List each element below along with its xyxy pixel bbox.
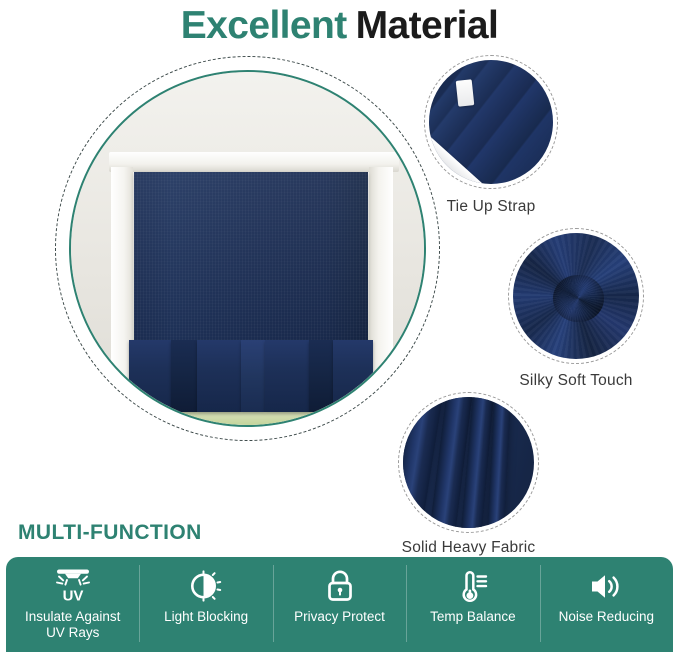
detail-caption-silky-soft-touch: Silky Soft Touch (519, 372, 632, 390)
feature-temp-balance: Temp Balance (406, 557, 539, 652)
roman-shade-pleats (129, 340, 373, 412)
feature-label-light-blocking: Light Blocking (164, 609, 248, 625)
feature-insulate-against-uv-rays: UV Insulate Against UV Rays (6, 557, 139, 652)
feature-label-noise-reducing: Noise Reducing (559, 609, 654, 625)
page-title: Excellent Material (0, 0, 679, 52)
thermometer-icon (454, 567, 492, 605)
uv-shade-icon: UV (50, 567, 96, 605)
feature-label-temp-balance: Temp Balance (430, 609, 516, 625)
detail-caption-tie-up-strap: Tie Up Strap (447, 198, 536, 216)
feature-noise-reducing: Noise Reducing (540, 557, 673, 652)
feature-label-privacy-protect: Privacy Protect (294, 609, 385, 625)
feature-light-blocking: Light Blocking (139, 557, 272, 652)
roman-shade-panel (134, 172, 368, 346)
solid-heavy-fabric-photo (403, 397, 534, 528)
detail-solid-heavy-fabric: Solid Heavy Fabric (398, 392, 539, 533)
feature-label-line2: UV Rays (46, 625, 99, 640)
speaker-waves-icon (586, 567, 626, 605)
feature-label-line1: Insulate Against (25, 609, 120, 624)
hero-product-photo (69, 70, 426, 427)
detail-caption-solid-heavy-fabric: Solid Heavy Fabric (402, 539, 536, 557)
feature-label-insulate-against-uv-rays: Insulate Against UV Rays (25, 609, 120, 640)
detail-silky-soft-touch: Silky Soft Touch (508, 228, 644, 364)
window-casing-top (109, 152, 399, 172)
half-sun-icon (187, 567, 225, 605)
page-title-rest: Material (356, 4, 499, 48)
page-title-highlight: Excellent (181, 4, 347, 48)
svg-text:UV: UV (62, 588, 83, 605)
feature-privacy-protect: Privacy Protect (273, 557, 406, 652)
multifunction-feature-bar: UV Insulate Against UV Rays L (6, 557, 673, 652)
silky-soft-touch-photo (513, 233, 639, 359)
detail-tie-up-strap: Tie Up Strap (424, 55, 558, 189)
lock-icon (323, 567, 357, 605)
multifunction-heading: MULTI-FUNCTION (18, 521, 202, 545)
tie-up-strap-photo (429, 60, 553, 184)
